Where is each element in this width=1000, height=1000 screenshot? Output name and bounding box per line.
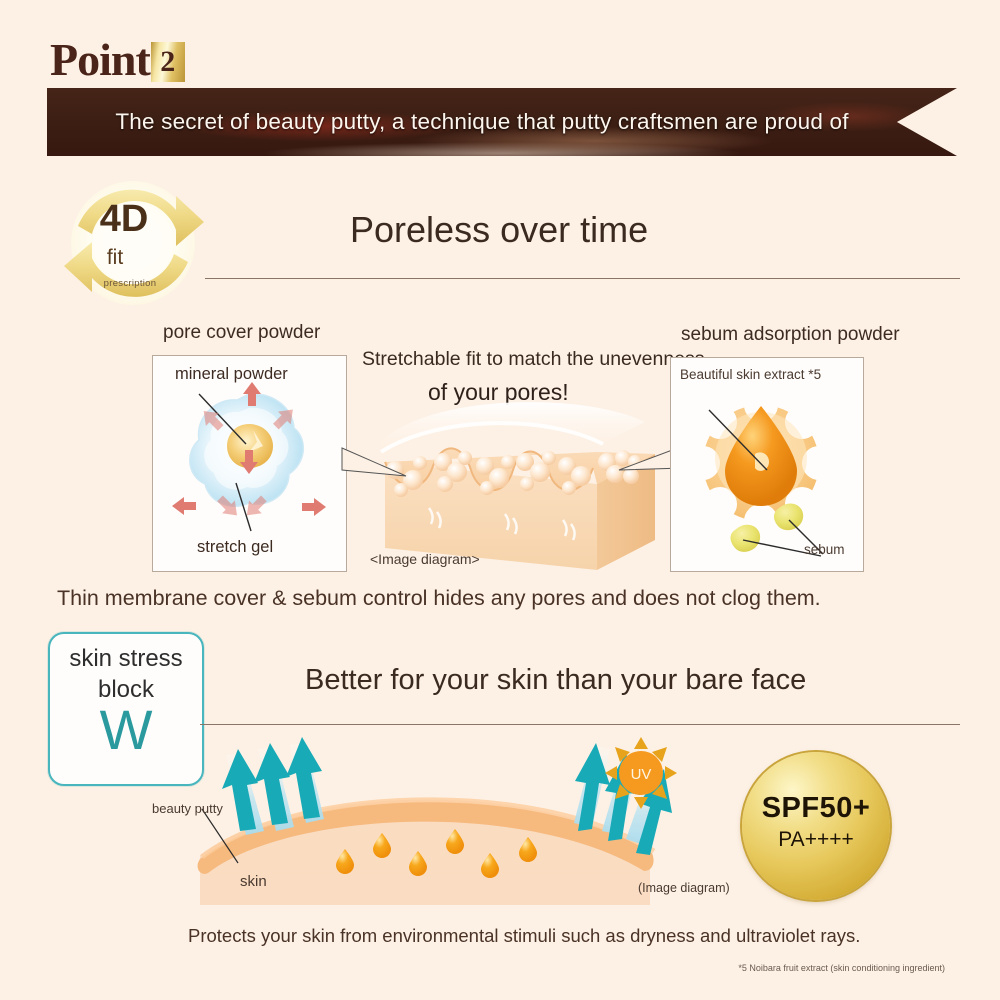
- uv-sun-icon: UV: [605, 737, 677, 809]
- beauty-putty-label: beauty putty: [152, 801, 223, 816]
- point-header: Point 2: [50, 38, 185, 82]
- center-image-note: <Image diagram>: [370, 551, 480, 567]
- beautiful-skin-extract-label: Beautiful skin extract *5: [680, 367, 821, 382]
- badge-4d-fit: 4D fit prescription: [52, 178, 214, 308]
- pore-cross-section-illustration: [345, 400, 675, 575]
- point-label: Point: [50, 38, 150, 82]
- sebum-label: sebum: [804, 542, 845, 557]
- bottom-image-note: (Image diagram): [638, 881, 730, 895]
- left-connector-line: [340, 440, 410, 485]
- infographic-page: Point 2 The secret of beauty putty, a te…: [0, 0, 1000, 1000]
- badge-4d-caption: prescription: [80, 278, 180, 289]
- skin-label: skin: [240, 873, 267, 890]
- stretch-gel-label: stretch gel: [197, 538, 273, 557]
- section-1-title: Poreless over time: [350, 209, 648, 251]
- mineral-powder-label: mineral powder: [175, 365, 288, 384]
- spf-badge: SPF50+ PA++++: [742, 752, 890, 900]
- uv-sun-label: UV: [631, 766, 652, 783]
- footnote-text: *5 Noibara fruit extract (skin condition…: [738, 963, 945, 973]
- section-banner: The secret of beauty putty, a technique …: [47, 88, 957, 156]
- spf-value: SPF50+: [742, 792, 890, 825]
- badge-4d-sub: fit: [70, 246, 160, 270]
- badge-4d-main: 4D: [74, 198, 174, 241]
- card-line-1: skin stress: [50, 645, 202, 673]
- point-number-badge: 2: [151, 42, 185, 82]
- section-2-divider: [200, 724, 960, 725]
- section-2-title: Better for your skin than your bare face: [305, 664, 806, 697]
- gear-droplet-illustration: [671, 358, 861, 569]
- right-panel-heading: sebum adsorption powder: [681, 324, 900, 346]
- left-panel-heading: pore cover powder: [163, 322, 320, 344]
- pa-value: PA++++: [742, 828, 890, 852]
- section-1-divider: [205, 278, 960, 279]
- section-1-summary: Thin membrane cover & sebum control hide…: [57, 586, 821, 611]
- sebum-adsorption-powder-panel: Beautiful skin extract *5 sebum: [670, 357, 864, 572]
- pore-cover-powder-panel: mineral powder stretch gel: [152, 355, 347, 572]
- section-2-summary: Protects your skin from environmental st…: [188, 925, 860, 947]
- center-caption-line1: Stretchable fit to match the unevenness: [362, 348, 705, 371]
- banner-text: The secret of beauty putty, a technique …: [47, 88, 917, 156]
